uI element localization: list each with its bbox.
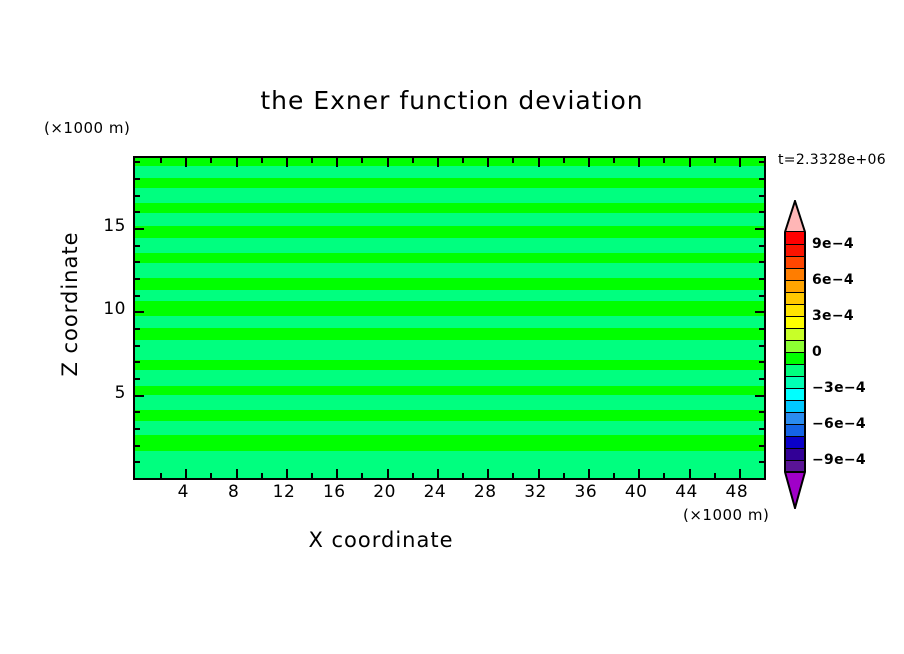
field-stripe (135, 386, 764, 394)
y-axis-minor-tick (135, 211, 140, 213)
timestamp-annotation: t=2.3328e+06 (778, 152, 886, 168)
x-axis-minor-tick (714, 473, 716, 478)
y-axis-major-tick (755, 395, 764, 397)
y-axis-minor-tick (135, 361, 140, 363)
x-axis-major-tick (689, 469, 691, 478)
field-stripe (135, 213, 764, 226)
x-axis-major-tick (538, 469, 540, 478)
x-axis-tick-label: 8 (228, 482, 239, 502)
x-axis-minor-tick (613, 158, 615, 163)
colorbar-band-divider (786, 412, 804, 413)
x-axis-minor-tick (361, 158, 363, 163)
colorbar-band (784, 268, 806, 280)
colorbar-band (784, 448, 806, 460)
x-axis-major-tick (185, 469, 187, 478)
y-axis-minor-tick (759, 295, 764, 297)
x-axis-major-tick (236, 469, 238, 478)
y-axis-minor-tick (135, 278, 140, 280)
field-stripe (135, 290, 764, 302)
field-stripe (135, 278, 764, 290)
x-axis-major-tick (437, 158, 439, 167)
colorbar-tick-label: −6e−4 (812, 416, 866, 432)
y-axis-major-tick (135, 395, 144, 397)
x-axis-minor-tick (261, 473, 263, 478)
colorbar-band (784, 352, 806, 364)
x-axis-tick-label: 40 (625, 482, 648, 502)
field-stripe (135, 253, 764, 263)
colorbar-band (784, 256, 806, 268)
chart-title: the Exner function deviation (0, 86, 904, 115)
x-axis-major-tick (588, 469, 590, 478)
x-axis-minor-tick (160, 473, 162, 478)
colorbar-under-arrow (784, 471, 806, 509)
colorbar-band-divider (786, 424, 804, 425)
colorbar-band-divider (786, 316, 804, 317)
y-axis-minor-tick (759, 328, 764, 330)
x-axis-tick-label: 44 (675, 482, 698, 502)
y-axis-minor-tick (759, 445, 764, 447)
x-axis-major-tick (336, 158, 338, 167)
field-stripe (135, 451, 764, 478)
colorbar-tick-label: 0 (812, 344, 822, 360)
field-stripe (135, 435, 764, 452)
x-axis-major-tick (236, 158, 238, 167)
colorbar-band-divider (786, 460, 804, 461)
y-axis-minor-tick (135, 378, 140, 380)
heatmap-field (135, 158, 764, 478)
field-stripe (135, 360, 764, 370)
x-axis-tick-label: 12 (273, 482, 296, 502)
colorbar-band-divider (786, 352, 804, 353)
x-axis-major-tick (689, 158, 691, 167)
x-axis-minor-tick (563, 473, 565, 478)
y-axis-major-tick (755, 228, 764, 230)
y-axis-minor-tick (759, 345, 764, 347)
x-axis-major-tick (638, 469, 640, 478)
x-axis-major-tick (487, 469, 489, 478)
colorbar-band (784, 232, 806, 244)
colorbar-band-divider (786, 268, 804, 269)
field-stripe (135, 188, 764, 203)
x-axis-minor-tick (613, 473, 615, 478)
y-axis-minor-tick (135, 461, 140, 463)
y-axis-minor-tick (759, 411, 764, 413)
colorbar[interactable] (784, 232, 806, 472)
x-axis-tick-label: 48 (726, 482, 749, 502)
x-axis-minor-tick (663, 158, 665, 163)
x-axis-units-label: (×1000 m) (683, 506, 769, 524)
field-stripe (135, 421, 764, 434)
colorbar-band (784, 412, 806, 424)
colorbar-band (784, 376, 806, 388)
x-axis-major-tick (739, 469, 741, 478)
y-axis-major-tick (755, 311, 764, 313)
y-axis-minor-tick (759, 211, 764, 213)
colorbar-band-divider (786, 328, 804, 329)
y-axis-minor-tick (759, 161, 764, 163)
x-axis-minor-tick (714, 158, 716, 163)
x-axis-minor-tick (563, 158, 565, 163)
x-axis-major-tick (487, 158, 489, 167)
y-axis-minor-tick (759, 261, 764, 263)
field-stripe (135, 226, 764, 238)
x-axis-major-tick (185, 158, 187, 167)
x-axis-tick-label: 4 (178, 482, 189, 502)
colorbar-band (784, 244, 806, 256)
x-axis-tick-label: 32 (524, 482, 547, 502)
colorbar-band-divider (786, 304, 804, 305)
y-axis-minor-tick (759, 361, 764, 363)
colorbar-band (784, 328, 806, 340)
x-axis-major-tick (387, 158, 389, 167)
colorbar-band (784, 388, 806, 400)
heatmap-plot-area[interactable] (133, 156, 766, 480)
y-axis-units-label: (×1000 m) (44, 119, 130, 137)
y-axis-minor-tick (135, 195, 140, 197)
field-stripe (135, 328, 764, 340)
colorbar-band-divider (786, 292, 804, 293)
y-axis-minor-tick (759, 178, 764, 180)
colorbar-tick-label: 9e−4 (812, 236, 854, 252)
colorbar-band (784, 316, 806, 328)
x-axis-minor-tick (210, 158, 212, 163)
colorbar-over-arrow (784, 200, 806, 233)
x-axis-major-tick (437, 469, 439, 478)
x-axis-minor-tick (663, 473, 665, 478)
y-axis-minor-tick (135, 328, 140, 330)
y-axis-tick-label: 10 (103, 299, 126, 319)
field-stripe (135, 340, 764, 360)
x-axis-major-tick (739, 158, 741, 167)
y-axis-minor-tick (135, 161, 140, 163)
x-axis-title: X coordinate (0, 528, 762, 552)
x-axis-tick-label: 28 (474, 482, 497, 502)
colorbar-band-divider (786, 280, 804, 281)
y-axis-title: Z coordinate (58, 174, 82, 434)
x-axis-tick-label: 36 (575, 482, 598, 502)
y-axis-major-tick (135, 311, 144, 313)
colorbar-band-divider (786, 388, 804, 389)
x-axis-major-tick (588, 158, 590, 167)
x-axis-major-tick (638, 158, 640, 167)
field-stripe (135, 203, 764, 213)
colorbar-tick-label: 3e−4 (812, 308, 854, 324)
x-axis-major-tick (336, 469, 338, 478)
colorbar-band-divider (786, 340, 804, 341)
colorbar-band-divider (786, 448, 804, 449)
y-axis-minor-tick (759, 428, 764, 430)
y-axis-minor-tick (135, 245, 140, 247)
field-stripe (135, 178, 764, 188)
colorbar-band (784, 340, 806, 352)
colorbar-band (784, 436, 806, 448)
x-axis-major-tick (538, 158, 540, 167)
x-axis-minor-tick (311, 473, 313, 478)
colorbar-band (784, 292, 806, 304)
colorbar-band-divider (786, 436, 804, 437)
y-axis-minor-tick (135, 445, 140, 447)
y-axis-minor-tick (759, 245, 764, 247)
colorbar-band-divider (786, 244, 804, 245)
field-stripe (135, 301, 764, 316)
y-axis-minor-tick (135, 295, 140, 297)
x-axis-minor-tick (512, 158, 514, 163)
x-axis-tick-label: 16 (323, 482, 346, 502)
x-axis-tick-label: 24 (424, 482, 447, 502)
x-axis-major-tick (286, 158, 288, 167)
field-stripe (135, 370, 764, 387)
field-stripe (135, 316, 764, 328)
y-axis-minor-tick (759, 461, 764, 463)
y-axis-minor-tick (759, 278, 764, 280)
y-axis-minor-tick (759, 195, 764, 197)
y-axis-major-tick (135, 228, 144, 230)
y-axis-minor-tick (135, 428, 140, 430)
colorbar-band-divider (786, 376, 804, 377)
x-axis-minor-tick (412, 473, 414, 478)
field-stripe (135, 263, 764, 278)
x-axis-tick-label: 20 (373, 482, 396, 502)
x-axis-minor-tick (210, 473, 212, 478)
x-axis-minor-tick (512, 473, 514, 478)
field-stripe (135, 166, 764, 178)
colorbar-band (784, 424, 806, 436)
colorbar-band-divider (786, 256, 804, 257)
field-stripe (135, 395, 764, 410)
colorbar-band-divider (786, 400, 804, 401)
field-stripe (135, 238, 764, 253)
y-axis-minor-tick (135, 178, 140, 180)
field-stripe (135, 158, 764, 166)
y-axis-tick-label: 15 (103, 216, 126, 236)
colorbar-band-divider (786, 364, 804, 365)
x-axis-minor-tick (361, 473, 363, 478)
colorbar-band (784, 364, 806, 376)
x-axis-major-tick (286, 469, 288, 478)
x-axis-minor-tick (462, 473, 464, 478)
x-axis-minor-tick (160, 158, 162, 163)
colorbar-tick-label: −9e−4 (812, 452, 866, 468)
colorbar-band (784, 400, 806, 412)
colorbar-tick-label: 6e−4 (812, 272, 854, 288)
x-axis-major-tick (387, 469, 389, 478)
field-stripe (135, 410, 764, 422)
x-axis-minor-tick (261, 158, 263, 163)
colorbar-band (784, 304, 806, 316)
y-axis-minor-tick (759, 378, 764, 380)
x-axis-minor-tick (311, 158, 313, 163)
x-axis-minor-tick (462, 158, 464, 163)
y-axis-minor-tick (135, 411, 140, 413)
y-axis-tick-label: 5 (115, 383, 126, 403)
colorbar-tick-label: −3e−4 (812, 380, 866, 396)
y-axis-minor-tick (135, 261, 140, 263)
y-axis-minor-tick (135, 345, 140, 347)
x-axis-minor-tick (412, 158, 414, 163)
colorbar-band (784, 280, 806, 292)
